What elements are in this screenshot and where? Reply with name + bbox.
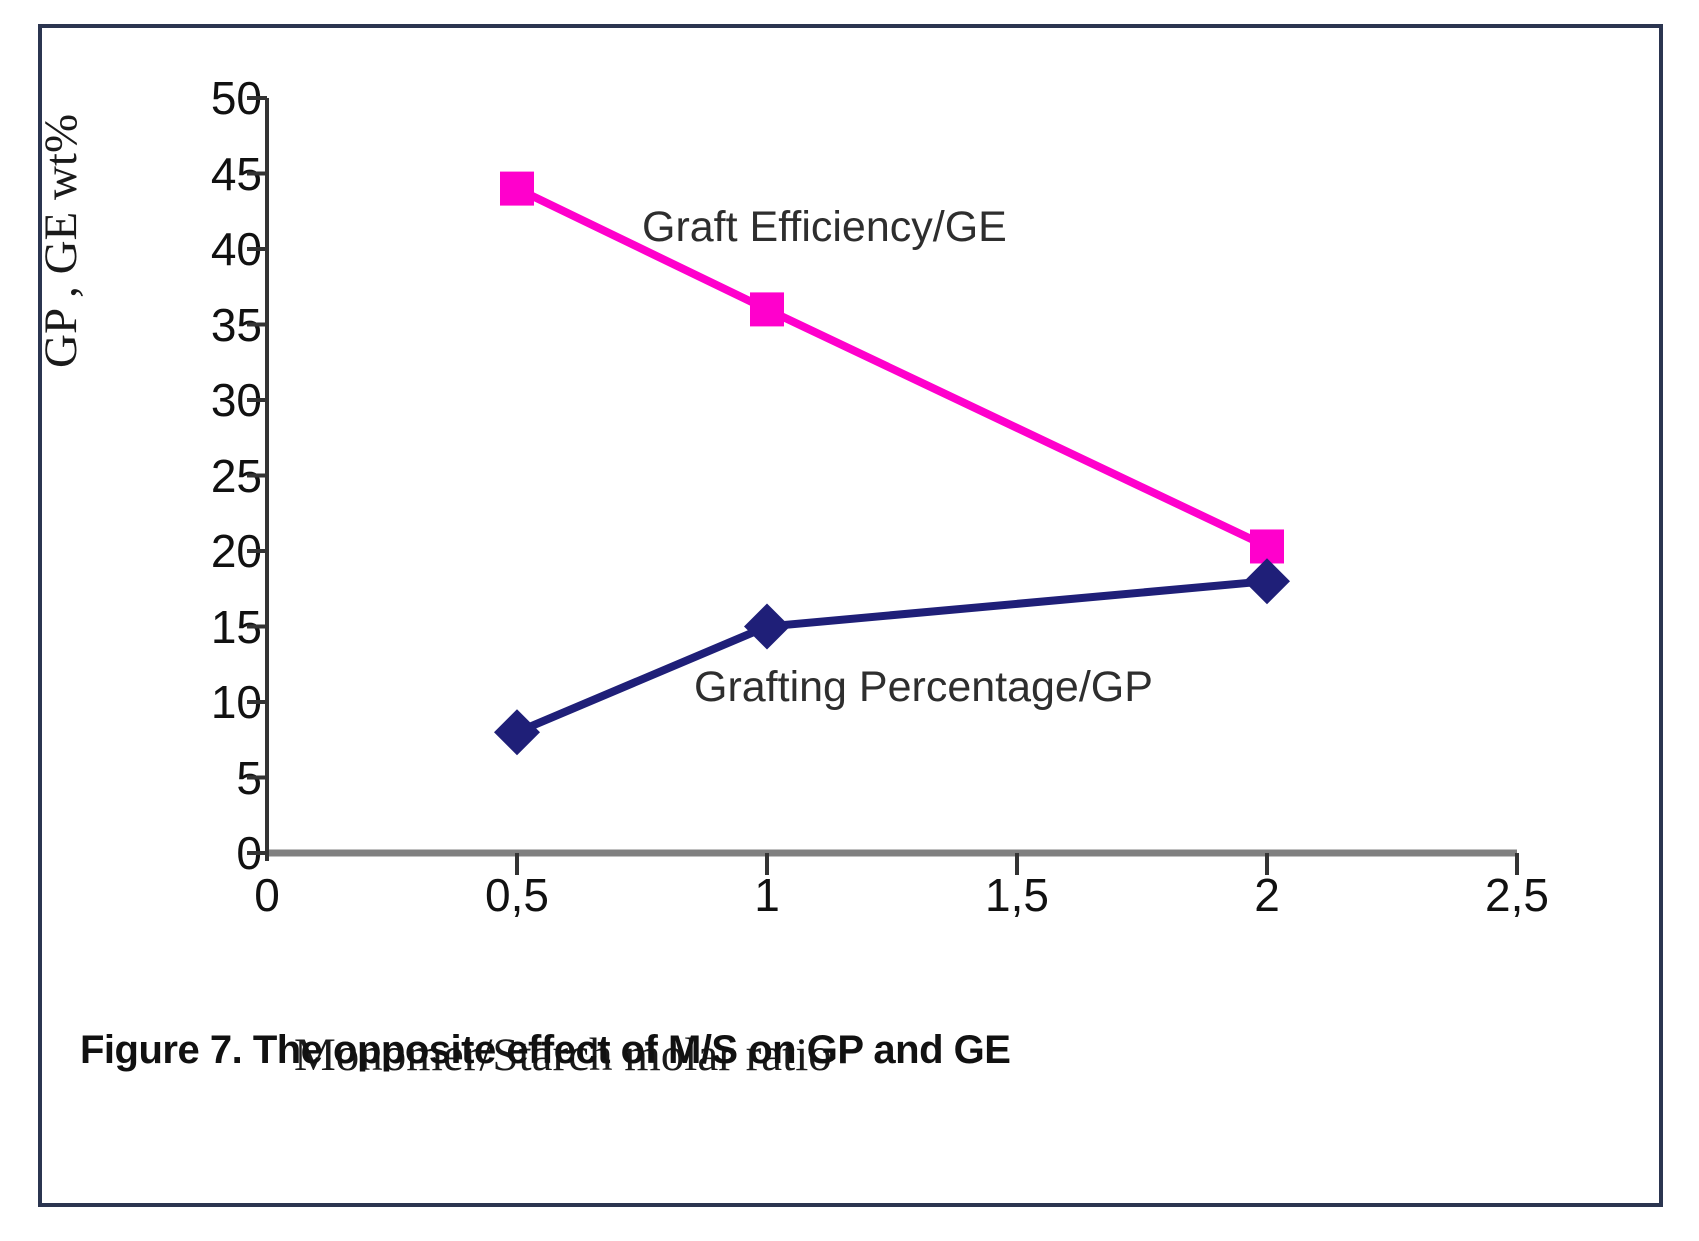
figure-frame: 05101520253035404550 00,511,522,5 GP , G… [38, 24, 1663, 1207]
x-tick-label: 1 [754, 868, 780, 922]
x-tick-label: 0,5 [485, 868, 549, 922]
data-point-marker [750, 292, 784, 326]
x-tick-label: 2,5 [1485, 868, 1549, 922]
data-point-marker [744, 604, 790, 650]
series-annotation-grafting-percentage: Grafting Percentage/GP [694, 663, 1153, 712]
x-tick-label: 0 [254, 868, 280, 922]
x-axis-tick-labels: 00,511,522,5 [267, 868, 1517, 928]
y-axis-title: GP , GE wt% [34, 0, 88, 368]
series-annotation-graft-efficiency: Graft Efficiency/GE [642, 203, 1007, 252]
x-tick-label: 2 [1254, 868, 1280, 922]
y-axis-tick-labels: 05101520253035404550 [142, 98, 262, 853]
data-point-marker [1244, 558, 1290, 604]
x-tick-label: 1,5 [985, 868, 1049, 922]
data-point-marker [494, 709, 540, 755]
figure-caption: Figure 7. The opposite effect of M/S on … [80, 1028, 1010, 1073]
data-point-marker [500, 172, 534, 206]
